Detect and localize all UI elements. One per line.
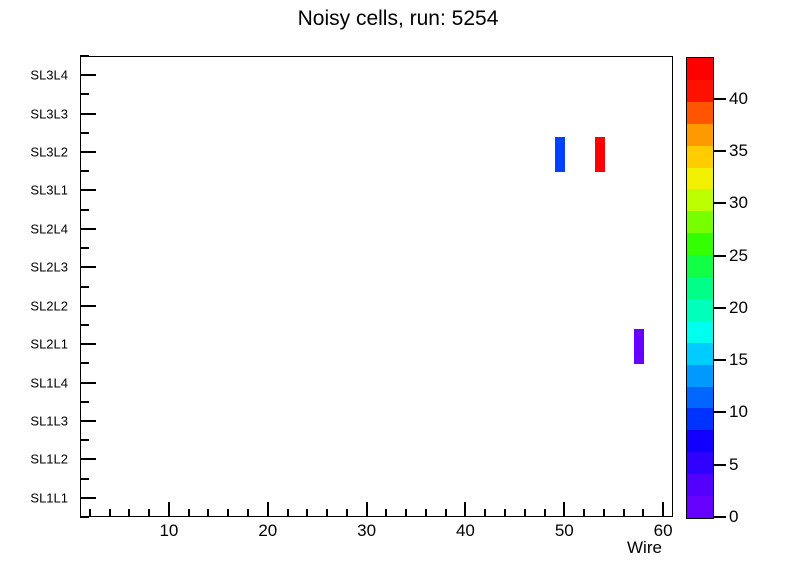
y-axis-tick-major <box>80 74 96 76</box>
x-axis-tick-minor <box>504 509 506 517</box>
x-axis-tick-minor <box>524 509 526 517</box>
y-axis-label-sl3l2: SL3L2 <box>30 145 68 160</box>
x-axis-tick-minor <box>109 509 111 517</box>
color-scale-tick <box>713 464 726 466</box>
color-scale-tick <box>713 411 726 413</box>
color-scale-tick <box>713 516 726 518</box>
color-scale-tick <box>713 359 726 361</box>
y-axis-tick-minor <box>80 439 89 441</box>
y-axis-label-sl2l4: SL2L4 <box>30 221 68 236</box>
color-band-13 <box>687 211 713 233</box>
color-band-11 <box>687 255 713 277</box>
x-axis-tick-minor <box>385 509 387 517</box>
y-axis-tick-minor <box>80 209 89 211</box>
x-axis-tick-minor <box>89 509 91 517</box>
x-axis-title: Wire <box>627 538 662 558</box>
y-axis-label-sl2l3: SL2L3 <box>30 260 68 275</box>
y-axis-tick-major <box>80 458 96 460</box>
color-band-4 <box>687 408 713 430</box>
y-axis-tick-minor <box>80 478 89 480</box>
color-band-9 <box>687 299 713 321</box>
color-band-0 <box>687 496 713 518</box>
y-axis-labels: SL1L1SL1L2SL1L3SL1L4SL2L1SL2L2SL2L3SL2L4… <box>0 56 74 517</box>
color-band-6 <box>687 365 713 387</box>
y-axis-tick-minor <box>80 362 89 364</box>
x-axis-tick-minor <box>405 509 407 517</box>
y-axis-label-sl1l3: SL1L3 <box>30 413 68 428</box>
color-scale-label: 35 <box>729 141 748 161</box>
plot-frame <box>80 56 673 517</box>
color-scale-label: 15 <box>729 350 748 370</box>
x-axis-tick-minor <box>287 509 289 517</box>
y-axis-tick-minor <box>80 286 89 288</box>
y-axis-tick-major <box>80 305 96 307</box>
y-axis-tick-major <box>80 420 96 422</box>
y-axis-tick-major <box>80 189 96 191</box>
x-axis-tick-minor <box>326 509 328 517</box>
y-axis-tick-major <box>80 343 96 345</box>
page-title: Noisy cells, run: 5254 <box>0 7 796 31</box>
color-scale-label: 5 <box>729 455 738 475</box>
color-scale-label: 0 <box>729 507 738 527</box>
color-scale-tick <box>713 202 726 204</box>
color-band-10 <box>687 277 713 299</box>
color-scale-tick <box>713 150 726 152</box>
x-axis-tick-minor <box>583 509 585 517</box>
color-scale-label: 25 <box>729 246 748 266</box>
y-axis-tick-minor <box>80 93 89 95</box>
color-band-12 <box>687 233 713 255</box>
y-axis-tick-major <box>80 266 96 268</box>
x-axis-tick-major <box>267 502 269 517</box>
y-axis-tick-minor <box>80 401 89 403</box>
x-axis-tick-major <box>366 502 368 517</box>
x-axis-tick-major <box>563 502 565 517</box>
heatmap-cell <box>555 137 565 172</box>
y-axis-label-sl2l1: SL2L1 <box>30 337 68 352</box>
y-axis-tick-major <box>80 497 96 499</box>
y-axis-tick-major <box>80 113 96 115</box>
y-axis-tick-major <box>80 228 96 230</box>
y-axis-label-sl1l1: SL1L1 <box>30 490 68 505</box>
color-scale-bar <box>686 57 714 519</box>
x-axis-tick-minor <box>623 509 625 517</box>
x-axis-tick-minor <box>445 509 447 517</box>
x-axis-tick-minor <box>544 509 546 517</box>
color-scale-label: 20 <box>729 298 748 318</box>
x-axis-tick-minor <box>128 509 130 517</box>
color-band-15 <box>687 168 713 190</box>
color-band-14 <box>687 189 713 211</box>
color-band-18 <box>687 102 713 124</box>
color-band-20 <box>687 58 713 80</box>
x-axis-label-20: 20 <box>258 521 277 541</box>
x-axis-tick-minor <box>484 509 486 517</box>
color-scale-label: 40 <box>729 89 748 109</box>
x-axis-tick-minor <box>227 509 229 517</box>
x-axis-tick-minor <box>148 509 150 517</box>
x-axis-tick-minor <box>425 509 427 517</box>
x-axis-tick-minor <box>346 509 348 517</box>
x-axis-tick-minor <box>207 509 209 517</box>
heatmap-cell <box>595 137 605 172</box>
y-axis-tick-major <box>80 382 96 384</box>
color-band-1 <box>687 474 713 496</box>
x-axis-label-30: 30 <box>357 521 376 541</box>
x-axis-tick-major <box>168 502 170 517</box>
y-axis-tick-minor <box>80 170 89 172</box>
color-band-17 <box>687 124 713 146</box>
color-scale-tick <box>713 255 726 257</box>
color-band-5 <box>687 387 713 409</box>
y-axis-tick-minor <box>80 132 89 134</box>
y-axis-label-sl2l2: SL2L2 <box>30 298 68 313</box>
color-band-3 <box>687 430 713 452</box>
x-axis-tick-minor <box>247 509 249 517</box>
x-axis-label-50: 50 <box>555 521 574 541</box>
x-axis-tick-minor <box>642 509 644 517</box>
color-band-7 <box>687 343 713 365</box>
color-band-2 <box>687 452 713 474</box>
x-axis-tick-major <box>662 502 664 517</box>
heatmap-cell <box>634 329 644 364</box>
x-axis-tick-minor <box>603 509 605 517</box>
x-axis-label-10: 10 <box>159 521 178 541</box>
heatmap-cell-layer <box>81 57 672 516</box>
y-axis-label-sl3l1: SL3L1 <box>30 183 68 198</box>
y-axis-tick-minor <box>80 247 89 249</box>
color-scale-label: 30 <box>729 193 748 213</box>
x-axis-tick-minor <box>188 509 190 517</box>
color-scale-tick <box>713 307 726 309</box>
color-band-8 <box>687 321 713 343</box>
y-axis-tick-minor <box>80 516 89 518</box>
x-axis-tick-minor <box>306 509 308 517</box>
y-axis-tick-major <box>80 151 96 153</box>
color-band-19 <box>687 80 713 102</box>
y-axis-tick-minor <box>80 55 89 57</box>
color-band-16 <box>687 146 713 168</box>
x-axis-tick-major <box>464 502 466 517</box>
y-axis-label-sl3l4: SL3L4 <box>30 68 68 83</box>
y-axis-label-sl3l3: SL3L3 <box>30 106 68 121</box>
root-canvas: Noisy cells, run: 5254 SL1L1SL1L2SL1L3SL… <box>0 0 796 572</box>
y-axis-label-sl1l4: SL1L4 <box>30 375 68 390</box>
color-scale-tick <box>713 98 726 100</box>
y-axis-tick-minor <box>80 324 89 326</box>
color-scale-label: 10 <box>729 402 748 422</box>
x-axis-label-40: 40 <box>456 521 475 541</box>
y-axis-label-sl1l2: SL1L2 <box>30 452 68 467</box>
